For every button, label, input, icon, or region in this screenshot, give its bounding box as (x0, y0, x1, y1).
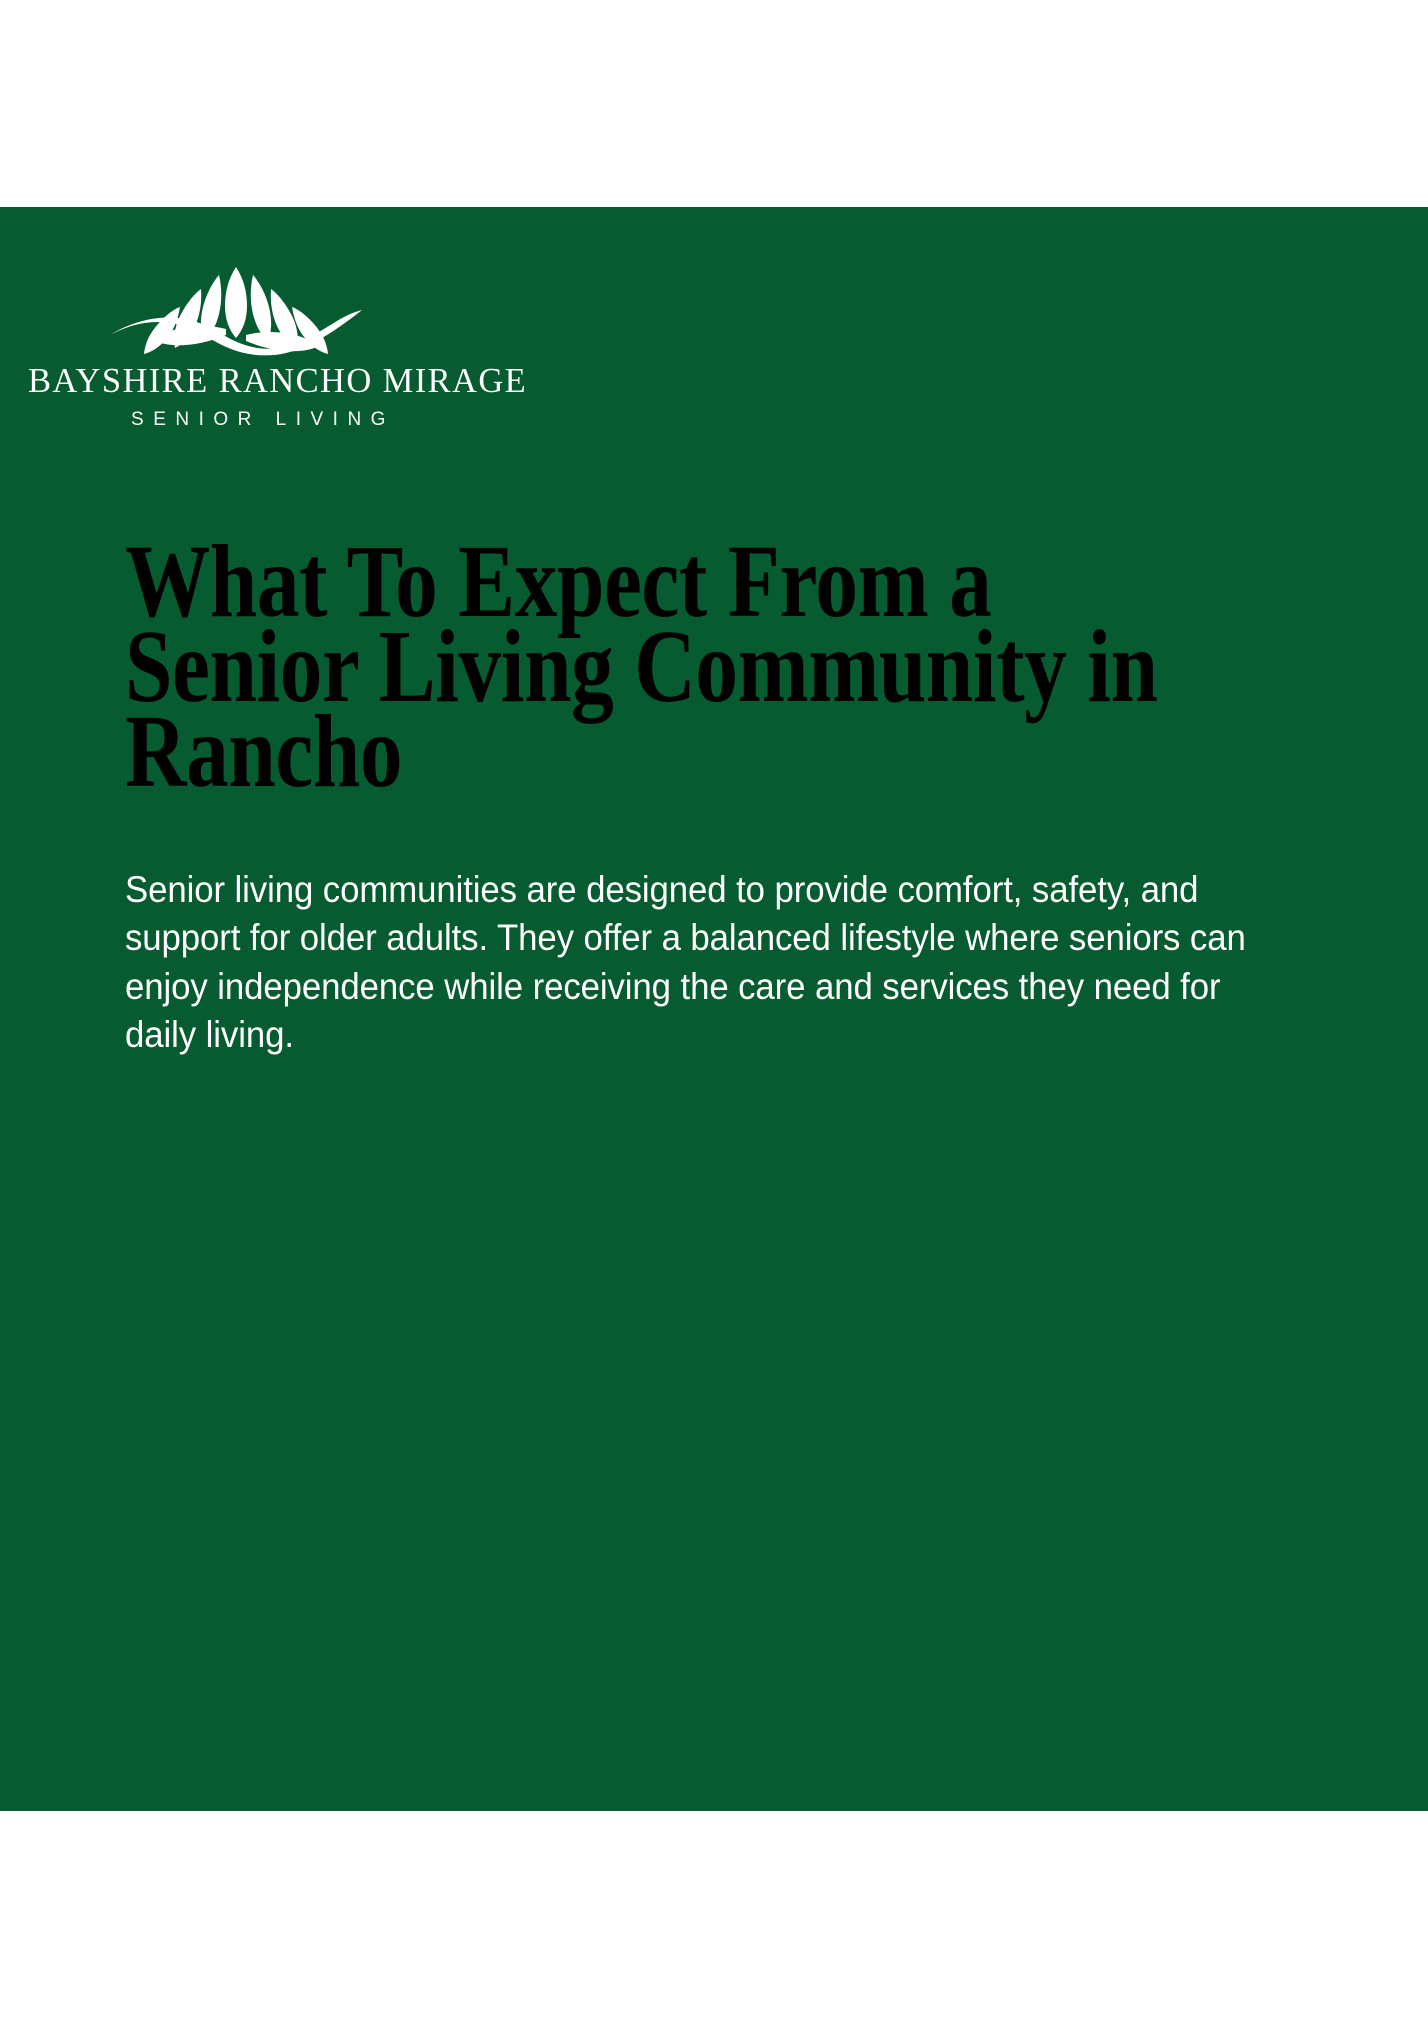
logo-wordmark: BAYSHIRE RANCHO MIRAGE (28, 363, 488, 400)
page-canvas: BAYSHIRE RANCHO MIRAGE SENIOR LIVING Wha… (0, 0, 1428, 2018)
page-title: What To Expect From a Senior Living Comm… (125, 539, 1207, 795)
logo-subwordmark: SENIOR LIVING (38, 410, 488, 431)
lotus-flower-logo-mark (106, 263, 366, 361)
intro-paragraph: Senior living communities are designed t… (125, 866, 1267, 1060)
hero-panel: BAYSHIRE RANCHO MIRAGE SENIOR LIVING Wha… (0, 207, 1428, 1811)
brand-logo-lockup[interactable]: BAYSHIRE RANCHO MIRAGE SENIOR LIVING (28, 263, 488, 431)
